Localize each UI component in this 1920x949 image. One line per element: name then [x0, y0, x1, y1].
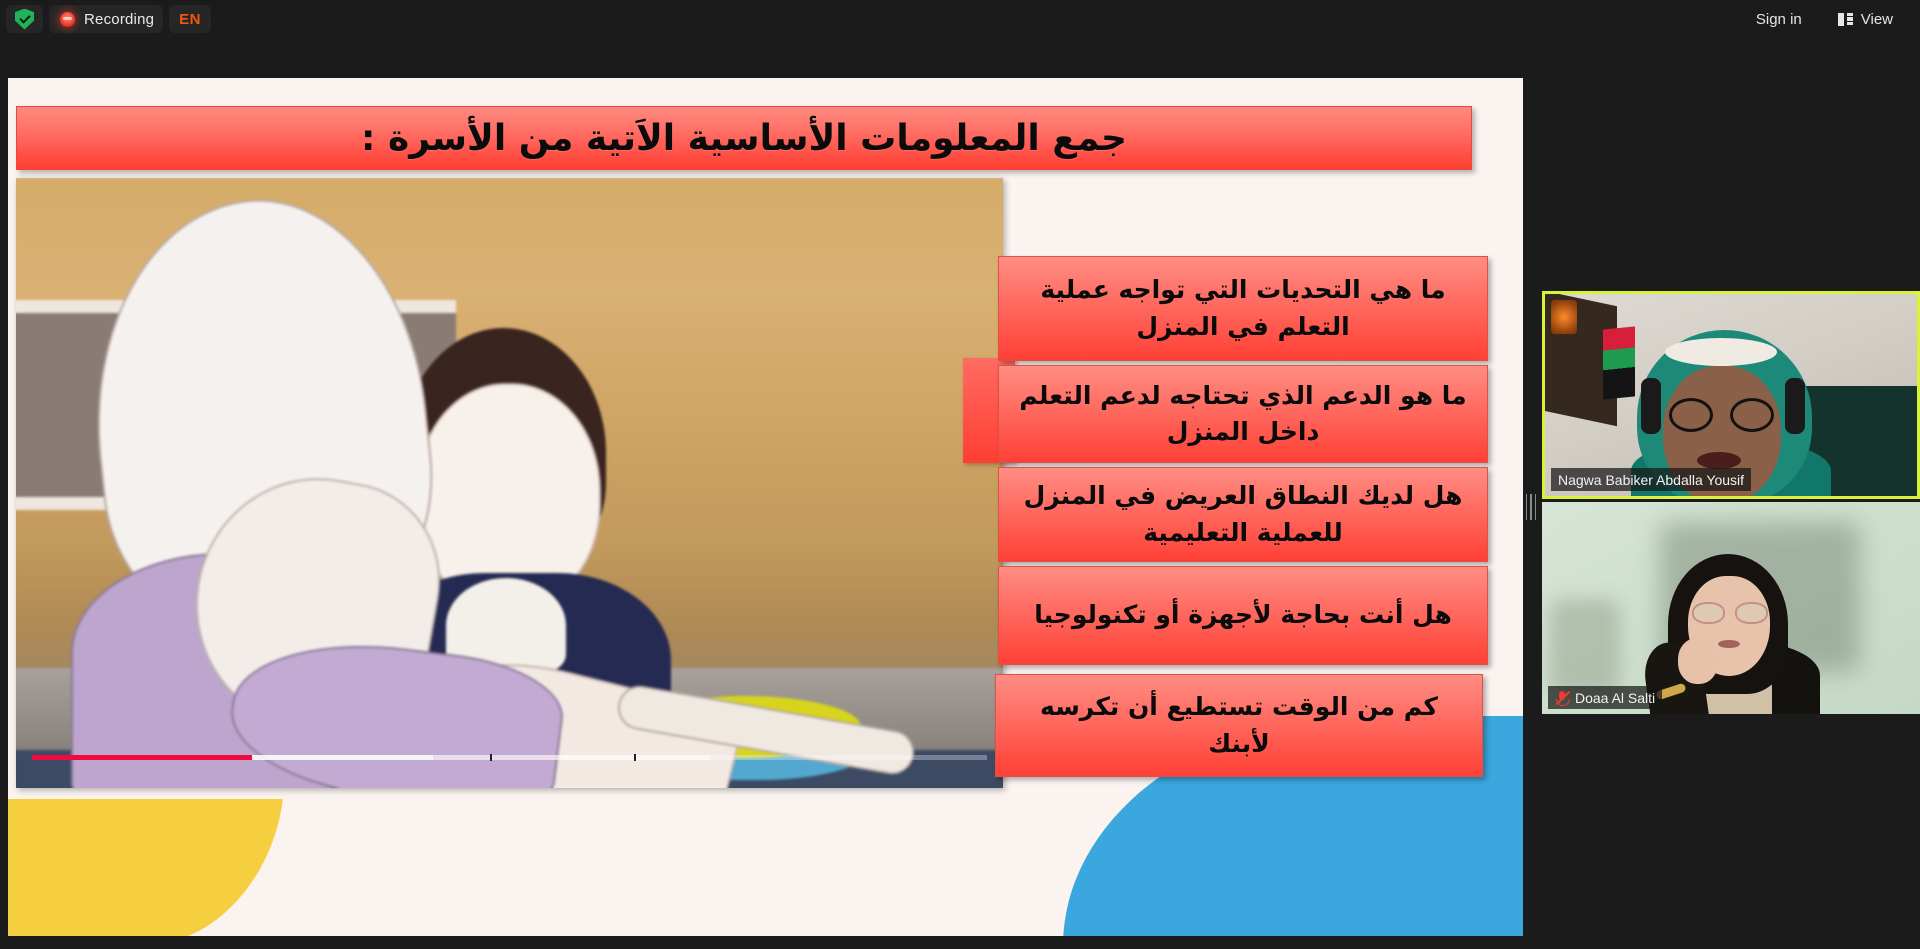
question-box-2[interactable]: ما هو الدعم الذي تحتاجه لدعم التعلم داخل…: [998, 365, 1488, 463]
participant-video-feed: [1542, 502, 1920, 714]
question-text: هل أنت بحاجة لأجهزة أو تكنولوجيا: [1013, 597, 1473, 633]
video-played-progress: [32, 755, 252, 760]
recording-label: Recording: [84, 11, 154, 28]
question-box-4[interactable]: هل أنت بحاجة لأجهزة أو تكنولوجيا: [998, 566, 1488, 665]
participant-name: Nagwa Babiker Abdalla Yousif: [1558, 472, 1744, 488]
slide-title: جمع المعلومات الأساسية الاَتية من الأسرة…: [361, 118, 1127, 159]
question-text: ما هي التحديات التي تواجه عملية التعلم ف…: [1013, 272, 1473, 345]
view-button[interactable]: View: [1825, 5, 1906, 33]
video-chapter-marker: [634, 754, 636, 761]
layout-view-icon: [1838, 13, 1853, 26]
shared-screen-slide[interactable]: جمع المعلومات الأساسية الاَتية من الأسرة…: [8, 78, 1523, 936]
participant-name-tag: Doaa Al Salti: [1548, 686, 1662, 709]
language-badge[interactable]: EN: [169, 5, 211, 33]
video-progress-bar[interactable]: [32, 755, 987, 760]
participant-tile[interactable]: Doaa Al Salti: [1542, 502, 1920, 714]
grip-icon: [1524, 494, 1538, 520]
toolbar-left-group: Recording EN: [0, 5, 211, 33]
cartoon-scene: [16, 178, 1003, 788]
video-chapter-marker: [490, 754, 492, 761]
question-list: ما هي التحديات التي تواجه عملية التعلم ف…: [998, 178, 1488, 818]
participant-name-tag: Nagwa Babiker Abdalla Yousif: [1551, 468, 1751, 491]
question-box-3[interactable]: هل لديك النطاق العريض في المنزل للعملية …: [998, 467, 1488, 562]
question-text: هل لديك النطاق العريض في المنزل للعملية …: [1013, 478, 1473, 551]
security-indicator[interactable]: [6, 5, 43, 33]
shield-check-icon: [15, 9, 34, 30]
panel-resize-handle[interactable]: [1524, 78, 1538, 936]
participant-name: Doaa Al Salti: [1575, 690, 1655, 706]
microphone-muted-icon: [1555, 690, 1569, 706]
sign-in-button[interactable]: Sign in: [1743, 5, 1815, 33]
top-toolbar: Recording EN Sign in View: [0, 0, 1920, 38]
slide-title-banner: جمع المعلومات الأساسية الاَتية من الأسرة…: [16, 106, 1472, 170]
recording-indicator[interactable]: Recording: [49, 5, 163, 33]
participant-video-strip: Nagwa Babiker Abdalla Yousif Doaa Al Sal…: [1542, 78, 1920, 936]
question-box-5[interactable]: كم من الوقت تستطيع أن تكرسه لأبنك: [995, 674, 1483, 777]
decorative-shape-yellow: [8, 799, 283, 936]
toolbar-right-group: Sign in View: [1743, 5, 1920, 33]
view-label: View: [1861, 11, 1893, 28]
question-text: كم من الوقت تستطيع أن تكرسه لأبنك: [1010, 689, 1468, 762]
sign-in-label: Sign in: [1756, 11, 1802, 28]
question-text: ما هو الدعم الذي تحتاجه لدعم التعلم داخل…: [1013, 378, 1473, 451]
question-box-1[interactable]: ما هي التحديات التي تواجه عملية التعلم ف…: [998, 256, 1488, 361]
embedded-video-player[interactable]: [16, 178, 1003, 788]
participant-video-feed: [1545, 294, 1917, 496]
participant-tile-speaking[interactable]: Nagwa Babiker Abdalla Yousif: [1542, 291, 1920, 499]
recording-dot-icon: [58, 10, 76, 28]
